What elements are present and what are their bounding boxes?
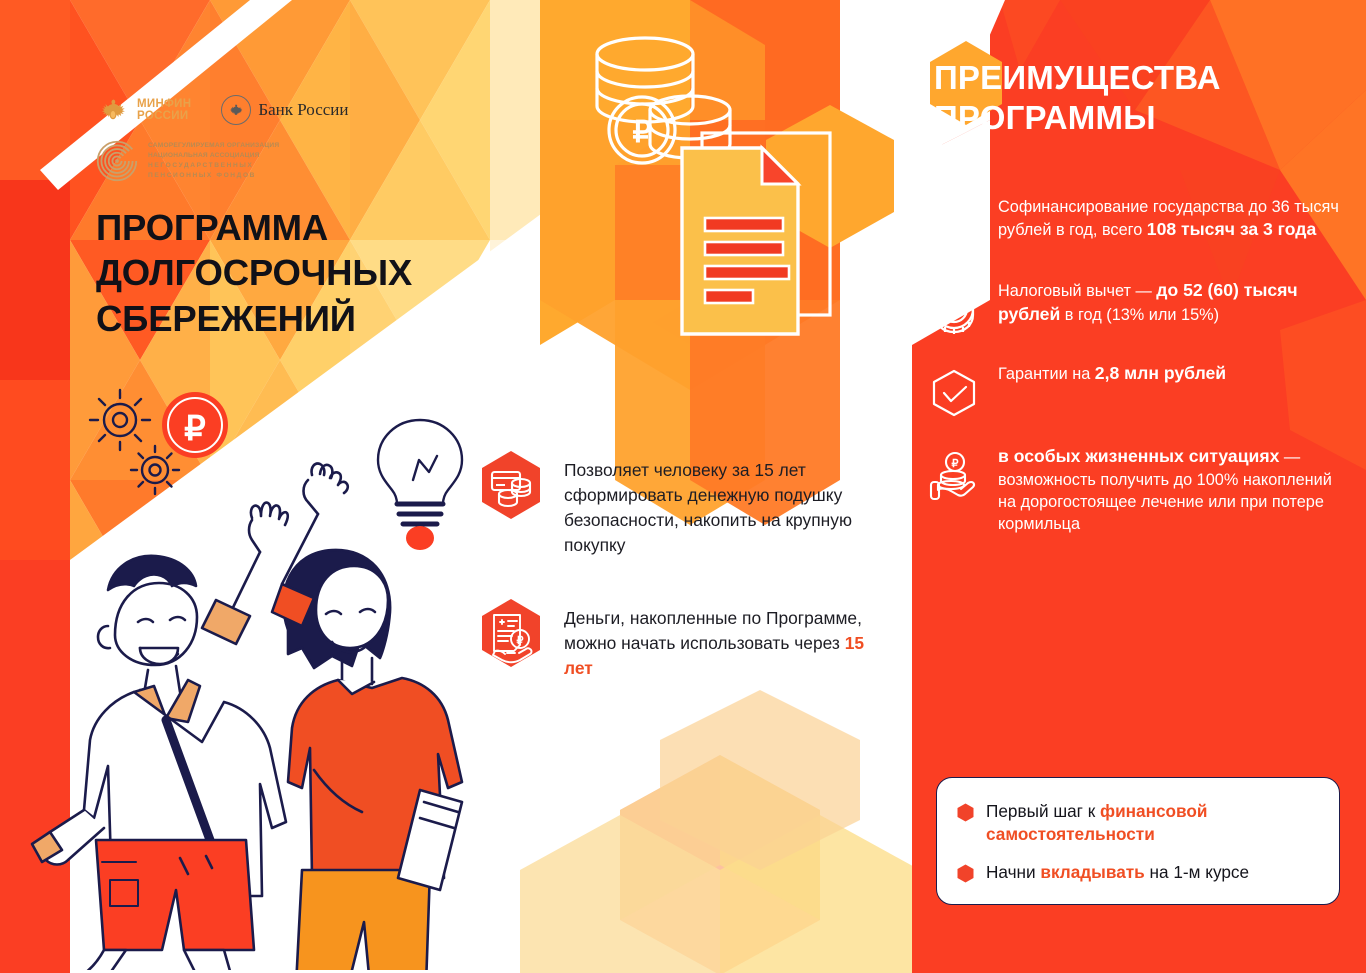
hexagon-bullet-icon [957, 864, 974, 883]
napf-spiral-icon [95, 139, 139, 183]
napf-label: САМОРЕГУЛИРУЕМАЯ ОРГАНИЗАЦИЯ НАЦИОНАЛЬНА… [148, 141, 279, 181]
benefit-item: Софинансирование государства до 36 тысяч… [926, 196, 1362, 256]
double-eagle-icon [95, 92, 131, 128]
benefits-title-line-2: ПРОГРАММЫ [934, 98, 1221, 138]
two-people-illustration: ₽ [20, 370, 490, 970]
list-item-text: Позволяет человеку за 15 лет сформироват… [564, 450, 884, 558]
benefit-item: Гарантии на 2,8 млн рублей [926, 362, 1362, 422]
ruble-coin-icon: ₽ [162, 392, 228, 458]
svg-text:₽: ₽ [184, 410, 206, 448]
contract-in-hand-hex-icon: ₽ [480, 598, 542, 668]
ruble-glyph: ₽ [632, 116, 651, 149]
benefits-list: Софинансирование государства до 36 тысяч… [926, 196, 1362, 558]
middle-column: ₽ [480, 0, 910, 973]
cbr-eagle-icon [221, 95, 251, 125]
callout-text-tail: на 1-м курсе [1145, 862, 1249, 882]
benefit-text-bold: 108 тысяч за 3 года [1147, 219, 1316, 239]
callout-box: Первый шаг к финансовой самостоятельност… [936, 777, 1340, 905]
title-line-3: СБЕРЕЖЕНИЙ [96, 296, 412, 341]
benefit-text-normal: Налоговый вычет — [998, 282, 1156, 300]
card-and-coins-hex-icon [480, 450, 542, 520]
hexagon-bullet-icon [957, 803, 974, 822]
benefits-panel: ПРЕИМУЩЕСТВА ПРОГРАММЫ Софинансирование … [912, 0, 1366, 973]
benefit-text-normal: Гарантии на [998, 365, 1095, 383]
callout-line: Начни вкладывать на 1-м курсе [957, 861, 1319, 884]
benefits-panel-title: ПРЕИМУЩЕСТВА ПРОГРАММЫ [934, 58, 1221, 139]
gear-icon [131, 446, 179, 494]
page-title: ПРОГРАММА ДОЛГОСРОЧНЫХ СБЕРЕЖЕНИЙ [96, 205, 412, 341]
callout-line: Первый шаг к финансовой самостоятельност… [957, 800, 1319, 845]
coins-stack-icon [597, 38, 730, 163]
item-text-main: Позволяет человеку за 15 лет сформироват… [564, 460, 852, 555]
napf-logo: САМОРЕГУЛИРУЕМАЯ ОРГАНИЗАЦИЯ НАЦИОНАЛЬНА… [95, 139, 395, 183]
lightbulb-icon [378, 420, 462, 524]
document-pages-icon [682, 133, 830, 334]
male-figure [30, 503, 288, 970]
svg-text:₽: ₽ [952, 458, 959, 470]
benefit-item: ₽ в особых жизненных ситуациях — возможн… [926, 445, 1362, 535]
callout-text-normal: Первый шаг к [986, 801, 1100, 821]
minfin-label: МИНФИН РОССИИ [137, 98, 191, 122]
list-item-text: Деньги, накопленные по Программе, можно … [564, 598, 884, 681]
benefit-item: ₽ Налоговый вычет — до 52 (60) тысяч руб… [926, 279, 1362, 339]
title-line-1: ПРОГРАММА [96, 205, 412, 250]
benefit-text: Софинансирование государства до 36 тысяч… [998, 196, 1343, 256]
benefit-text-bold: 2,8 млн рублей [1095, 363, 1226, 383]
title-line-2: ДОЛГОСРОЧНЫХ [96, 250, 412, 295]
logo-group: МИНФИН РОССИИ Банк России [95, 92, 395, 183]
benefit-text-bold: в особых жизненных ситуациях [998, 446, 1279, 466]
svg-text:₽: ₽ [949, 301, 960, 320]
gear-icon [90, 390, 150, 450]
bank-rossii-logo: Банк России [221, 95, 348, 125]
left-column: МИНФИН РОССИИ Банк России [0, 0, 530, 973]
poster-root: МИНФИН РОССИИ Банк России [0, 0, 1366, 973]
check-hexagon-icon [926, 366, 982, 422]
bank-rossii-label: Банк России [258, 100, 348, 120]
minfin-logo: МИНФИН РОССИИ [95, 92, 191, 128]
benefit-text: Гарантии на 2,8 млн рублей [998, 362, 1343, 422]
benefit-text: в особых жизненных ситуациях — возможнос… [998, 445, 1343, 535]
callout-text: Первый шаг к финансовой самостоятельност… [986, 800, 1319, 845]
item-text-main: Деньги, накопленные по Программе, можно … [564, 608, 862, 653]
callout-text-highlight: вкладывать [1040, 862, 1144, 882]
thumbs-up-icon [926, 200, 982, 256]
benefit-text-tail: в год (13% или 15%) [1060, 306, 1219, 324]
list-item: ₽ Деньги, накопленные по Программе, можн… [480, 598, 910, 681]
lightbulb-base [397, 504, 443, 550]
ruble-coin-icon: ₽ [926, 283, 982, 339]
middle-items-list: Позволяет человеку за 15 лет сформироват… [480, 450, 910, 721]
list-item: Позволяет человеку за 15 лет сформироват… [480, 450, 910, 558]
benefit-text: Налоговый вычет — до 52 (60) тысяч рубле… [998, 279, 1343, 339]
coins-in-hand-icon: ₽ [926, 449, 982, 505]
coins-and-documents-art: ₽ [560, 20, 920, 370]
callout-text-normal: Начни [986, 862, 1040, 882]
benefits-title-line-1: ПРЕИМУЩЕСТВА [934, 58, 1221, 98]
svg-text:₽: ₽ [517, 635, 524, 647]
callout-text: Начни вкладывать на 1-м курсе [986, 861, 1249, 884]
